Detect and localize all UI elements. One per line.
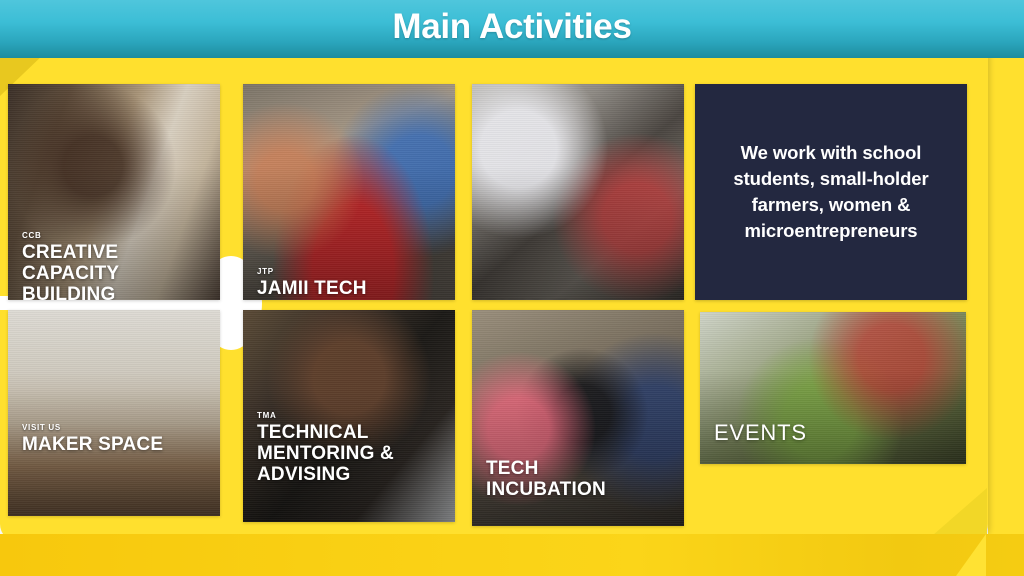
tile-kicker: TMA [257, 410, 447, 422]
tile-kicker: JTP [257, 266, 447, 278]
statement-text: We work with school students, small-hold… [717, 140, 944, 244]
tile-headline: BUILD IT WORKSHOP [486, 298, 676, 300]
tile-headline: EVENTS [714, 422, 958, 443]
tile-headline: TECH INCUBATION [486, 458, 676, 500]
tile-events[interactable]: EVENTS [700, 312, 966, 464]
tile-maker-space[interactable]: VISIT US MAKER SPACE [8, 310, 220, 516]
tile-jamii-tech-program[interactable]: JTP JAMII TECH PROGRAM [243, 84, 455, 300]
tile-headline: JAMII TECH PROGRAM [257, 278, 447, 300]
tile-headline: TECHNICAL MENTORING & ADVISING [257, 422, 447, 485]
tile-tech-incubation[interactable]: TECH INCUBATION [472, 310, 684, 526]
tile-caption: TMA TECHNICAL MENTORING & ADVISING [257, 410, 447, 485]
tile-caption: BUILD IT WORKSHOP [486, 298, 676, 300]
tile-headline: CREATIVE CAPACITY BUILDING WORKSHOPS [22, 242, 212, 300]
tile-caption: VISIT US MAKER SPACE [22, 422, 212, 455]
tile-grain [472, 84, 684, 300]
tile-grain [8, 310, 220, 516]
tile-caption: CCB CREATIVE CAPACITY BUILDING WORKSHOPS [22, 230, 212, 300]
title-band: Main Activities [0, 0, 1024, 58]
tile-caption: TECH INCUBATION [486, 458, 676, 500]
panel-right-sliver [988, 52, 1024, 534]
statement-panel: We work with school students, small-hold… [695, 84, 967, 300]
tile-kicker: VISIT US [22, 422, 212, 434]
tile-kicker: CCB [22, 230, 212, 242]
tile-caption: EVENTS [714, 422, 958, 443]
tile-technical-mentoring-and-advising[interactable]: TMA TECHNICAL MENTORING & ADVISING [243, 310, 455, 522]
tile-caption: JTP JAMII TECH PROGRAM [257, 266, 447, 300]
tile-headline: MAKER SPACE [22, 434, 212, 455]
bottom-accent-notch [956, 534, 986, 576]
tile-creative-capacity-building-workshops[interactable]: CCB CREATIVE CAPACITY BUILDING WORKSHOPS [8, 84, 220, 300]
bottom-accent-band [0, 534, 1024, 576]
slide: Main Activities CCB CREATIVE CAPACITY BU… [0, 0, 1024, 576]
page-title: Main Activities [0, 0, 1024, 58]
tile-build-it-workshop[interactable]: BUILD IT WORKSHOP [472, 84, 684, 300]
